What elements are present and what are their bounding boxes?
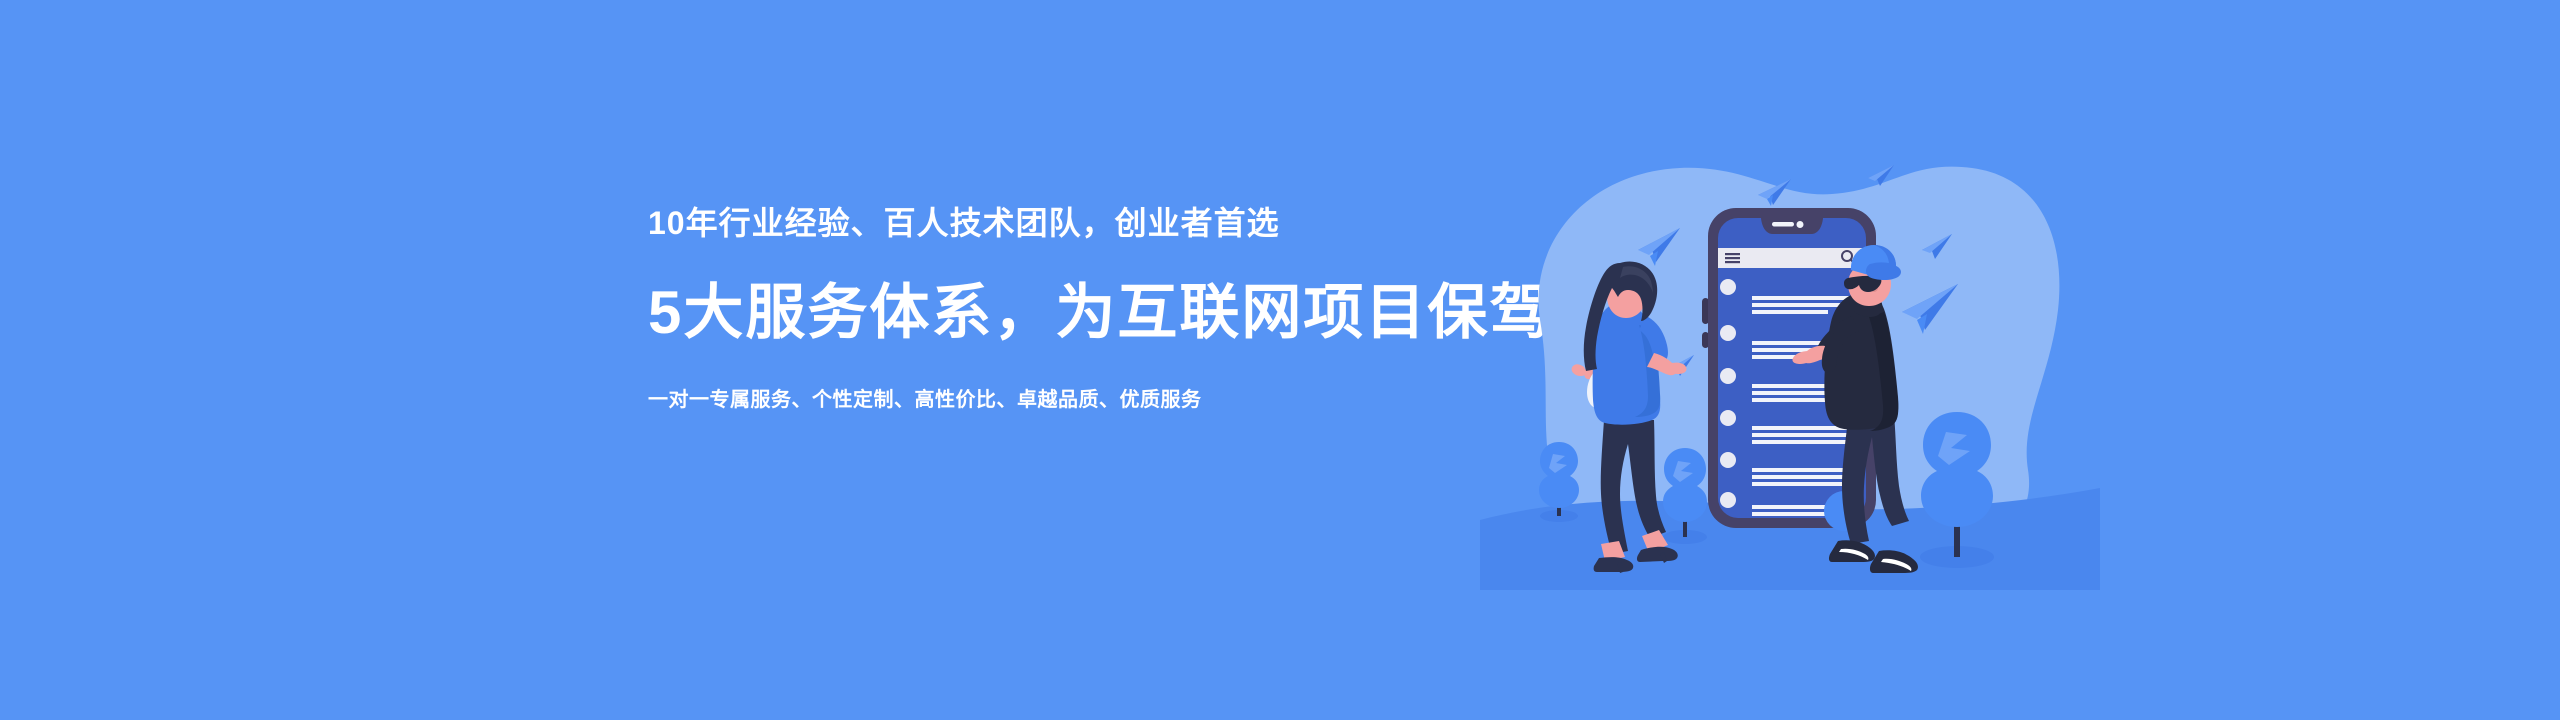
phone-side-button-top bbox=[1702, 298, 1709, 324]
hero-banner: 10年行业经验、百人技术团队，创业者首选 5大服务体系，为互联网项目保驾护航 一… bbox=[0, 0, 2560, 720]
hero-subline: 一对一专属服务、个性定制、高性价比、卓越品质、优质服务 bbox=[648, 390, 1202, 410]
hamburger-menu-icon bbox=[1725, 253, 1740, 263]
phone-speaker bbox=[1772, 222, 1794, 227]
hero-illustration bbox=[1480, 120, 2100, 590]
hero-eyebrow-text: 10年行业经验、百人技术团队，创业者首选 bbox=[648, 207, 1280, 239]
phone-front-camera bbox=[1797, 221, 1804, 228]
phone-side-button-bottom bbox=[1702, 332, 1709, 348]
